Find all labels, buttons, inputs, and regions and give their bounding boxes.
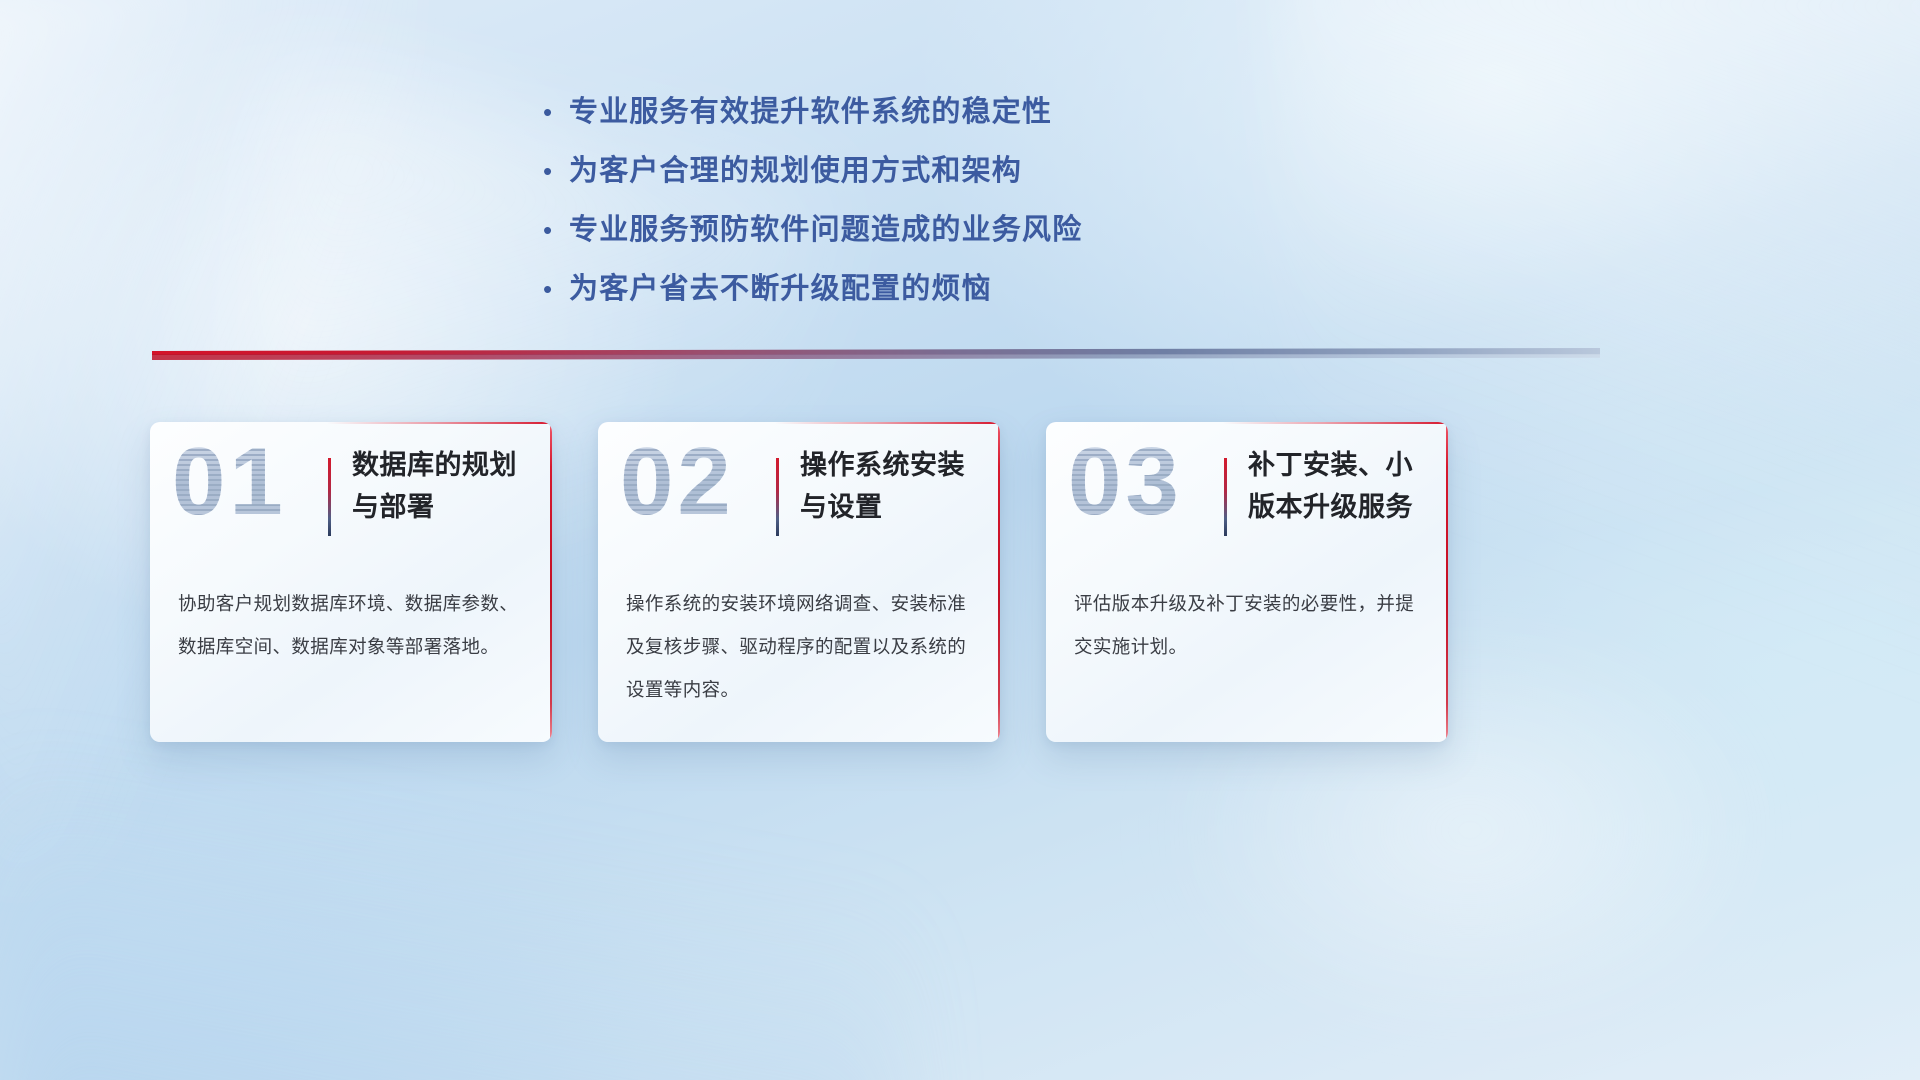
divider-lower-stripe	[152, 354, 1600, 360]
service-card-02[interactable]: 02 操作系统安装与设置 操作系统的安装环境网络调查、安装标准及复核步骤、驱动程…	[598, 422, 1000, 742]
bullet-point-icon: •	[540, 269, 569, 309]
card-number-watermark: 01	[172, 434, 287, 530]
card-title: 操作系统安装与设置	[800, 444, 990, 528]
service-card-group: 01 数据库的规划与部署 协助客户规划数据库环境、数据库参数、数据库空间、数据库…	[150, 422, 1450, 742]
card-header: 01 数据库的规划与部署	[150, 422, 552, 572]
list-item: • 专业服务预防软件问题造成的业务风险	[540, 210, 1300, 250]
card-number-watermark: 02	[620, 434, 735, 530]
card-description: 协助客户规划数据库环境、数据库参数、数据库空间、数据库对象等部署落地。	[178, 582, 526, 668]
card-title-divider	[1224, 458, 1227, 536]
card-title: 补丁安装、小版本升级服务	[1248, 444, 1438, 528]
card-number-watermark: 03	[1068, 434, 1183, 530]
card-header: 02 操作系统安装与设置	[598, 422, 1000, 572]
bullet-point-icon: •	[540, 210, 569, 250]
benefits-bullet-list: • 专业服务有效提升软件系统的稳定性 • 为客户合理的规划使用方式和架构 • 专…	[540, 92, 1300, 328]
bullet-item-label: 专业服务预防软件问题造成的业务风险	[569, 210, 1082, 250]
section-divider	[152, 348, 1600, 362]
list-item: • 为客户省去不断升级配置的烦恼	[540, 269, 1300, 309]
card-header: 03 补丁安装、小版本升级服务	[1046, 422, 1448, 572]
divider-upper-stripe	[152, 348, 1600, 355]
card-title: 数据库的规划与部署	[352, 444, 542, 528]
bullet-item-label: 为客户省去不断升级配置的烦恼	[569, 269, 992, 309]
slide-canvas: • 专业服务有效提升软件系统的稳定性 • 为客户合理的规划使用方式和架构 • 专…	[0, 0, 1920, 1080]
service-card-01[interactable]: 01 数据库的规划与部署 协助客户规划数据库环境、数据库参数、数据库空间、数据库…	[150, 422, 552, 742]
bullet-item-label: 专业服务有效提升软件系统的稳定性	[569, 92, 1052, 132]
card-title-divider	[776, 458, 779, 536]
bullet-item-label: 为客户合理的规划使用方式和架构	[569, 151, 1022, 191]
bullet-point-icon: •	[540, 92, 569, 132]
card-description: 评估版本升级及补丁安装的必要性，并提交实施计划。	[1074, 582, 1422, 668]
list-item: • 专业服务有效提升软件系统的稳定性	[540, 92, 1300, 132]
background-light-streak-bottom	[0, 700, 900, 1080]
card-title-divider	[328, 458, 331, 536]
list-item: • 为客户合理的规划使用方式和架构	[540, 151, 1300, 191]
service-card-03[interactable]: 03 补丁安装、小版本升级服务 评估版本升级及补丁安装的必要性，并提交实施计划。	[1046, 422, 1448, 742]
bullet-point-icon: •	[540, 151, 569, 191]
card-description: 操作系统的安装环境网络调查、安装标准及复核步骤、驱动程序的配置以及系统的设置等内…	[626, 582, 974, 711]
